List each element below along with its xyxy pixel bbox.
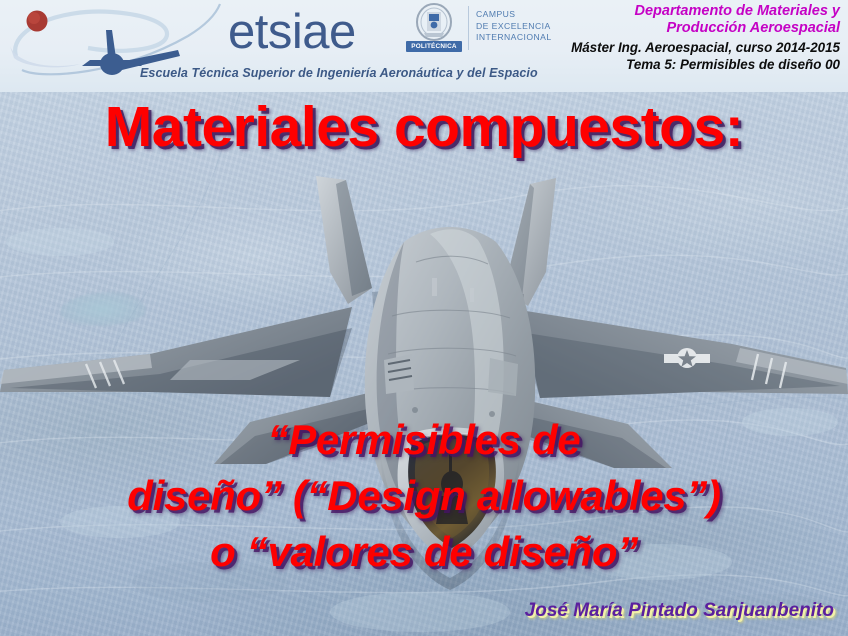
subtitle-line-3: o “valores de diseño” (0, 524, 848, 580)
slide-header: etsiae Escuela Técnica Superior de Ingen… (0, 0, 848, 92)
author-name: José María Pintado Sanjuanbenito (525, 600, 834, 622)
left-vertical-tail (316, 176, 372, 304)
campus-line-2: DE EXCELENCIA (476, 21, 552, 33)
logo-divider (468, 6, 469, 50)
presentation-slide: etsiae Escuela Técnica Superior de Ingen… (0, 0, 848, 636)
campus-line-1: CAMPUS (476, 9, 552, 21)
subtitle-line-1: “Permisibles de (0, 412, 848, 468)
course-line: Máster Ing. Aeroespacial, curso 2014-201… (571, 39, 840, 56)
department-line-1: Departamento de Materiales y (571, 3, 840, 20)
topic-line: Tema 5: Permisibles de diseño 00 (571, 56, 840, 73)
left-wing (0, 307, 352, 397)
upm-logo-block: POLITÉCNICA CAMPUS DE EXCELENCIA INTERNA… (406, 3, 566, 55)
department-line-2: Producción Aeroespacial (571, 20, 840, 37)
school-full-name: Escuela Técnica Superior de Ingeniería A… (140, 66, 538, 80)
campus-line-3: INTERNACIONAL (476, 32, 552, 44)
slide-title: Materiales compuestos: (0, 96, 848, 158)
slide-subtitle: “Permisibles de diseño” (“Design allowab… (0, 412, 848, 580)
politecnica-badge: POLITÉCNICA (406, 41, 462, 52)
right-wing (520, 310, 848, 398)
campus-excellence-text: CAMPUS DE EXCELENCIA INTERNACIONAL (476, 9, 552, 44)
header-course-info: Departamento de Materiales y Producción … (571, 3, 840, 73)
subtitle-line-2: diseño” (“Design allowables”) (0, 468, 848, 524)
etsiae-wordmark: etsiae (228, 8, 356, 57)
